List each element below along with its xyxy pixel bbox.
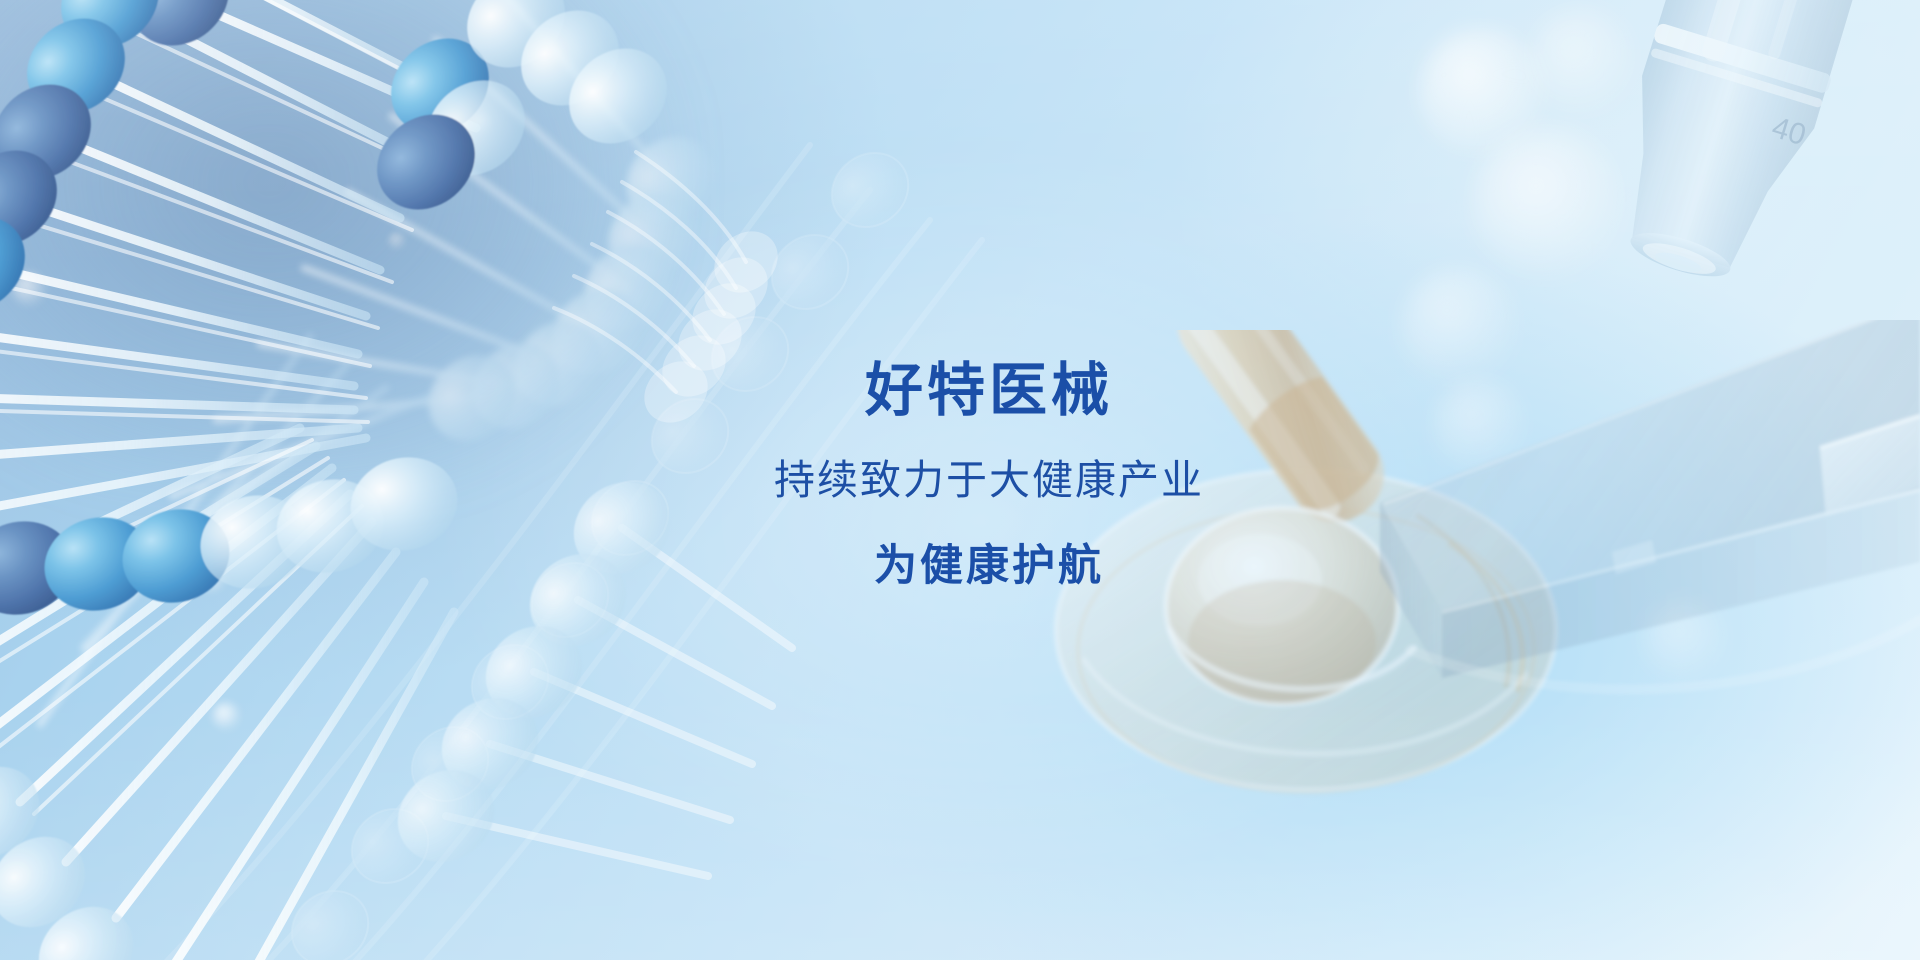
hero-banner: 40 — [0, 0, 1920, 960]
tagline-secondary: 为健康护航 — [709, 543, 1269, 590]
company-title: 好特医械 — [709, 360, 1269, 421]
hero-text-inner: 好特医械 持续致力于大健康产业 为健康护航 — [709, 360, 1269, 590]
tagline-primary: 持续致力于大健康产业 — [709, 458, 1269, 503]
hero-text-block: 好特医械 持续致力于大健康产业 为健康护航 — [0, 0, 1920, 960]
